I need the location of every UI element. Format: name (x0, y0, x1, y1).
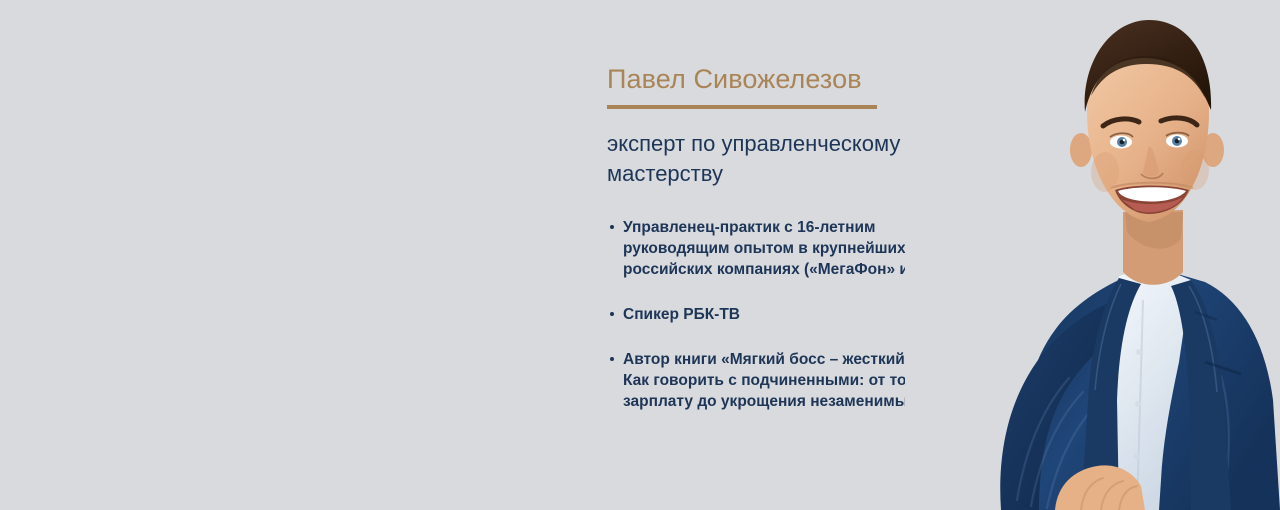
name-underline-rule (607, 105, 877, 109)
bullet-dot-icon (610, 312, 614, 316)
bullet-dot-icon (610, 357, 614, 361)
speaker-slide: Павел Сивожелезов эксперт по управленчес… (0, 0, 1280, 510)
list-item-text: Спикер РБК-ТВ (623, 306, 740, 323)
list-item-text: Автор книги «Мягкий босс – жесткий босс.… (623, 351, 951, 410)
speaker-portrait-photo (905, 0, 1280, 510)
bullet-dot-icon (610, 225, 614, 229)
list-item-text: Управленец-практик с 16-летним руководящ… (623, 219, 942, 278)
speaker-role: эксперт по управленческому мастерству (607, 129, 952, 189)
portrait-illustration (905, 0, 1280, 510)
